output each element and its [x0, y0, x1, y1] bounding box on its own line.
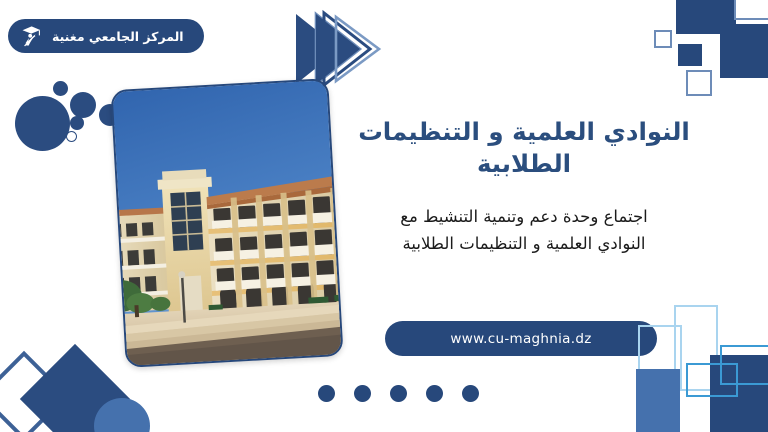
poster-subtitle: اجتماع وحدة دعم وتنمية التنشيط مع النواد…: [352, 204, 696, 257]
decor-dot: [426, 385, 443, 402]
graduation-cap-icon: [18, 23, 44, 49]
website-url-button[interactable]: www.cu-maghnia.dz: [385, 321, 657, 356]
poster-title-line2: الطلابية: [352, 148, 696, 180]
website-url-label: www.cu-maghnia.dz: [450, 331, 591, 347]
rectangle-stack-icon: [658, 297, 768, 432]
dot-row: [318, 385, 479, 402]
decor-rect-outline-4: [720, 345, 768, 385]
mosaic-square-2: [720, 24, 768, 78]
decor-dot: [354, 385, 371, 402]
poster-title-line1: النوادي العلمية و التنظيمات: [352, 116, 696, 148]
mosaic-square-3: [678, 44, 702, 66]
decor-circle-medium-1: [70, 92, 96, 118]
mosaic-square-outline-3: [686, 70, 712, 96]
decor-circle-large: [15, 96, 70, 151]
poster-subtitle-line2: النوادي العلمية و التنظيمات الطلابية: [352, 231, 696, 258]
poster-canvas: المركز الجامعي مغنية: [0, 0, 768, 432]
decor-dot: [390, 385, 407, 402]
square-mosaic-icon: [638, 0, 768, 112]
poster-title: النوادي العلمية و التنظيمات الطلابية: [352, 116, 696, 181]
brand-pill[interactable]: المركز الجامعي مغنية: [8, 19, 204, 53]
decor-circle-outline: [66, 131, 77, 142]
diamond-cluster-icon: [0, 340, 170, 432]
decor-rect-filled-blue: [636, 369, 680, 432]
decor-circle-small-1: [53, 81, 68, 96]
poster-subtitle-line1: اجتماع وحدة دعم وتنمية التنشيط مع: [352, 204, 696, 231]
brand-pill-label: المركز الجامعي مغنية: [52, 29, 184, 44]
mosaic-square-outline-1: [734, 0, 768, 20]
decor-dot: [318, 385, 335, 402]
decor-circle-small-2: [70, 116, 84, 130]
campus-photo: [110, 78, 343, 368]
decor-dot: [462, 385, 479, 402]
play-triangles-icon: [292, 8, 402, 90]
campus-photo-image: [113, 80, 342, 366]
mosaic-square-outline-2: [654, 30, 672, 48]
